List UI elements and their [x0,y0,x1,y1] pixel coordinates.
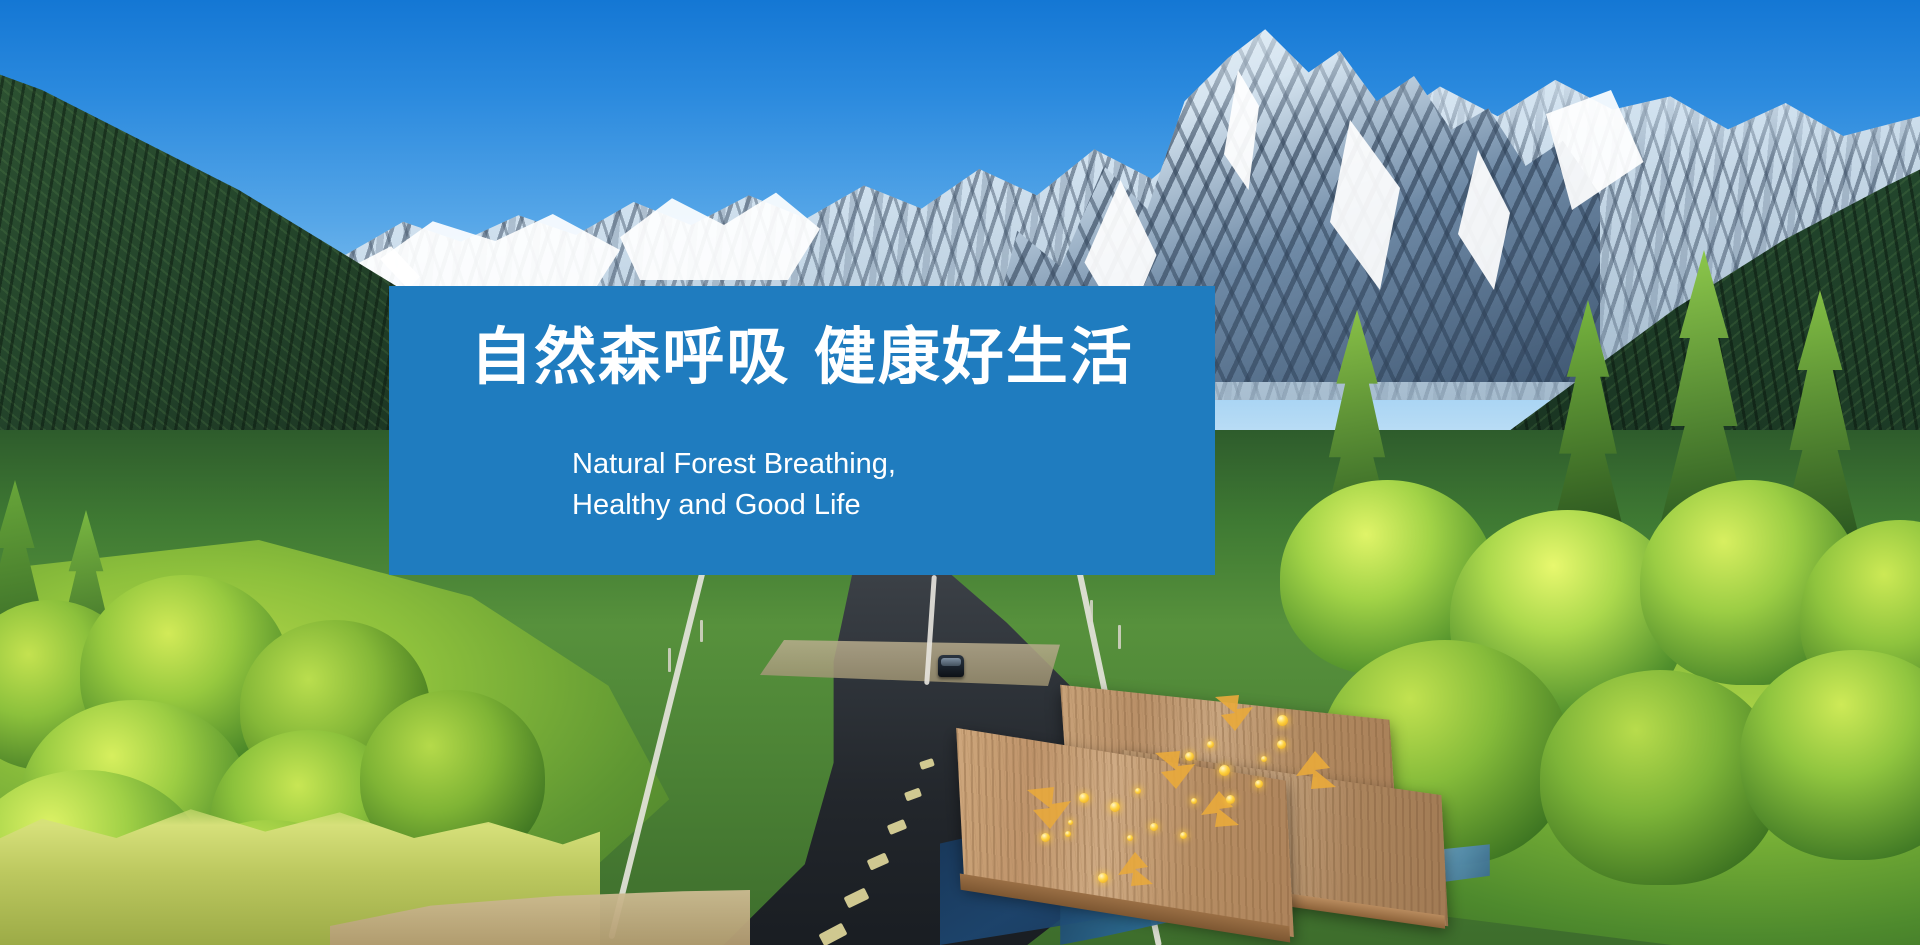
page-title: 自然森呼吸 健康好生活 [389,324,1215,390]
particle [1065,831,1071,837]
conifer-tree [1430,270,1512,530]
subtitle-line-1: Natural Forest Breathing, [572,444,896,485]
airflow-arrow-up [1113,848,1155,888]
particle [1079,793,1089,803]
car [938,655,964,677]
particle [1127,835,1133,841]
headline-panel: 自然森呼吸 健康好生活 Natural Forest Breathing, He… [389,286,1215,575]
particle [1277,715,1288,726]
particle [1150,823,1158,831]
subtitle: Natural Forest Breathing, Healthy and Go… [572,444,896,526]
roadside-post [668,648,671,672]
airflow-arrow-down [1025,785,1077,833]
airflow-arrow-up [1290,747,1338,791]
particle [1191,798,1197,804]
airflow-arrow-down [1213,693,1259,735]
roadside-post [700,620,703,642]
particle [1219,765,1230,776]
subtitle-line-2: Healthy and Good Life [572,485,896,526]
particle [1110,802,1120,812]
particle [1068,820,1073,825]
particle [1180,832,1187,839]
airflow-arrow-up [1195,787,1241,829]
conifer-tree [1550,300,1626,540]
roadside-post [1118,625,1121,649]
banner-stage: 自然森呼吸 健康好生活 Natural Forest Breathing, He… [0,0,1920,945]
particle [1255,780,1263,788]
particle [1135,788,1141,794]
particle [1207,741,1214,748]
particle [1041,833,1050,842]
particle [1098,873,1108,883]
particle [1261,756,1267,762]
wooden-flooring-planks [955,685,1475,945]
particle [1226,795,1235,804]
roadside-post [1090,600,1093,622]
particle [1185,752,1194,761]
particle [1277,740,1286,749]
